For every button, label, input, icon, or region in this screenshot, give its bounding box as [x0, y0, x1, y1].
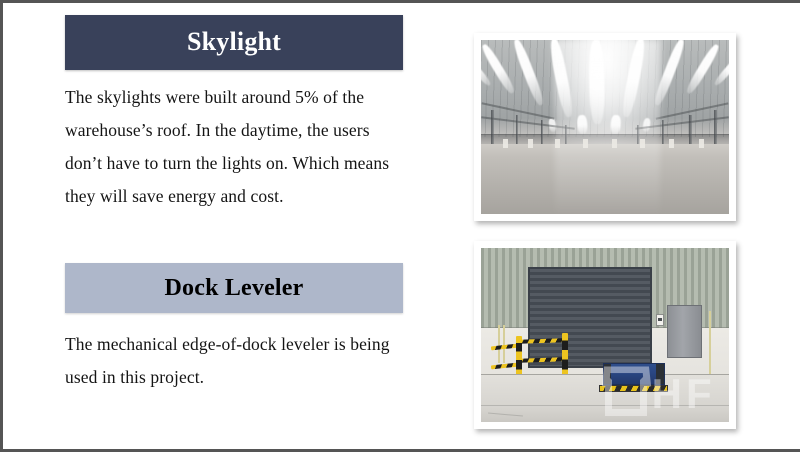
dock-leveler-body-text: The mechanical edge-of-dock leveler is b…: [65, 328, 405, 394]
wall-conduit-pipe: [503, 325, 505, 363]
skylight-section-header: Skylight: [65, 15, 403, 70]
steel-column: [516, 115, 519, 148]
slide-canvas: Skylight The skylights were built around…: [0, 0, 800, 452]
warehouse-interior-photo: [474, 33, 736, 221]
loading-dock-photo: HF: [474, 241, 736, 429]
door-control-panel: [656, 314, 664, 326]
wall-conduit-pipe: [709, 311, 711, 377]
warehouse-interior-image: [481, 40, 729, 214]
steel-column: [714, 110, 717, 148]
floor-light-reflection: [555, 40, 659, 214]
loading-dock-image: HF: [481, 248, 729, 422]
floor-pillar: [583, 139, 588, 148]
wall-conduit-pipe: [498, 325, 500, 363]
skylight-header-text: Skylight: [65, 28, 403, 57]
dock-leveler-section: Dock Leveler: [65, 263, 403, 313]
roller-shutter-door: [528, 267, 652, 368]
dock-leveler-header-text: Dock Leveler: [65, 275, 403, 301]
dock-leveler-section-header: Dock Leveler: [65, 263, 403, 313]
steel-column: [689, 115, 692, 148]
floor-pillar: [528, 139, 533, 148]
steel-column: [491, 110, 494, 148]
floor-pillar: [699, 139, 704, 148]
floor-pillar: [503, 139, 508, 148]
floor-pillar: [612, 139, 617, 148]
photo-watermark: HF: [605, 368, 729, 420]
skylight-body-text: The skylights were built around 5% of th…: [65, 81, 410, 213]
skylight-section: Skylight: [65, 15, 403, 70]
personnel-door: [667, 305, 702, 357]
floor-pillar: [669, 139, 674, 148]
floor-pillar: [640, 139, 645, 148]
building-outline-icon: [605, 373, 647, 416]
floor-pillar: [555, 139, 560, 148]
guardrail-post: [516, 336, 522, 380]
watermark-letters: HF: [652, 373, 716, 415]
